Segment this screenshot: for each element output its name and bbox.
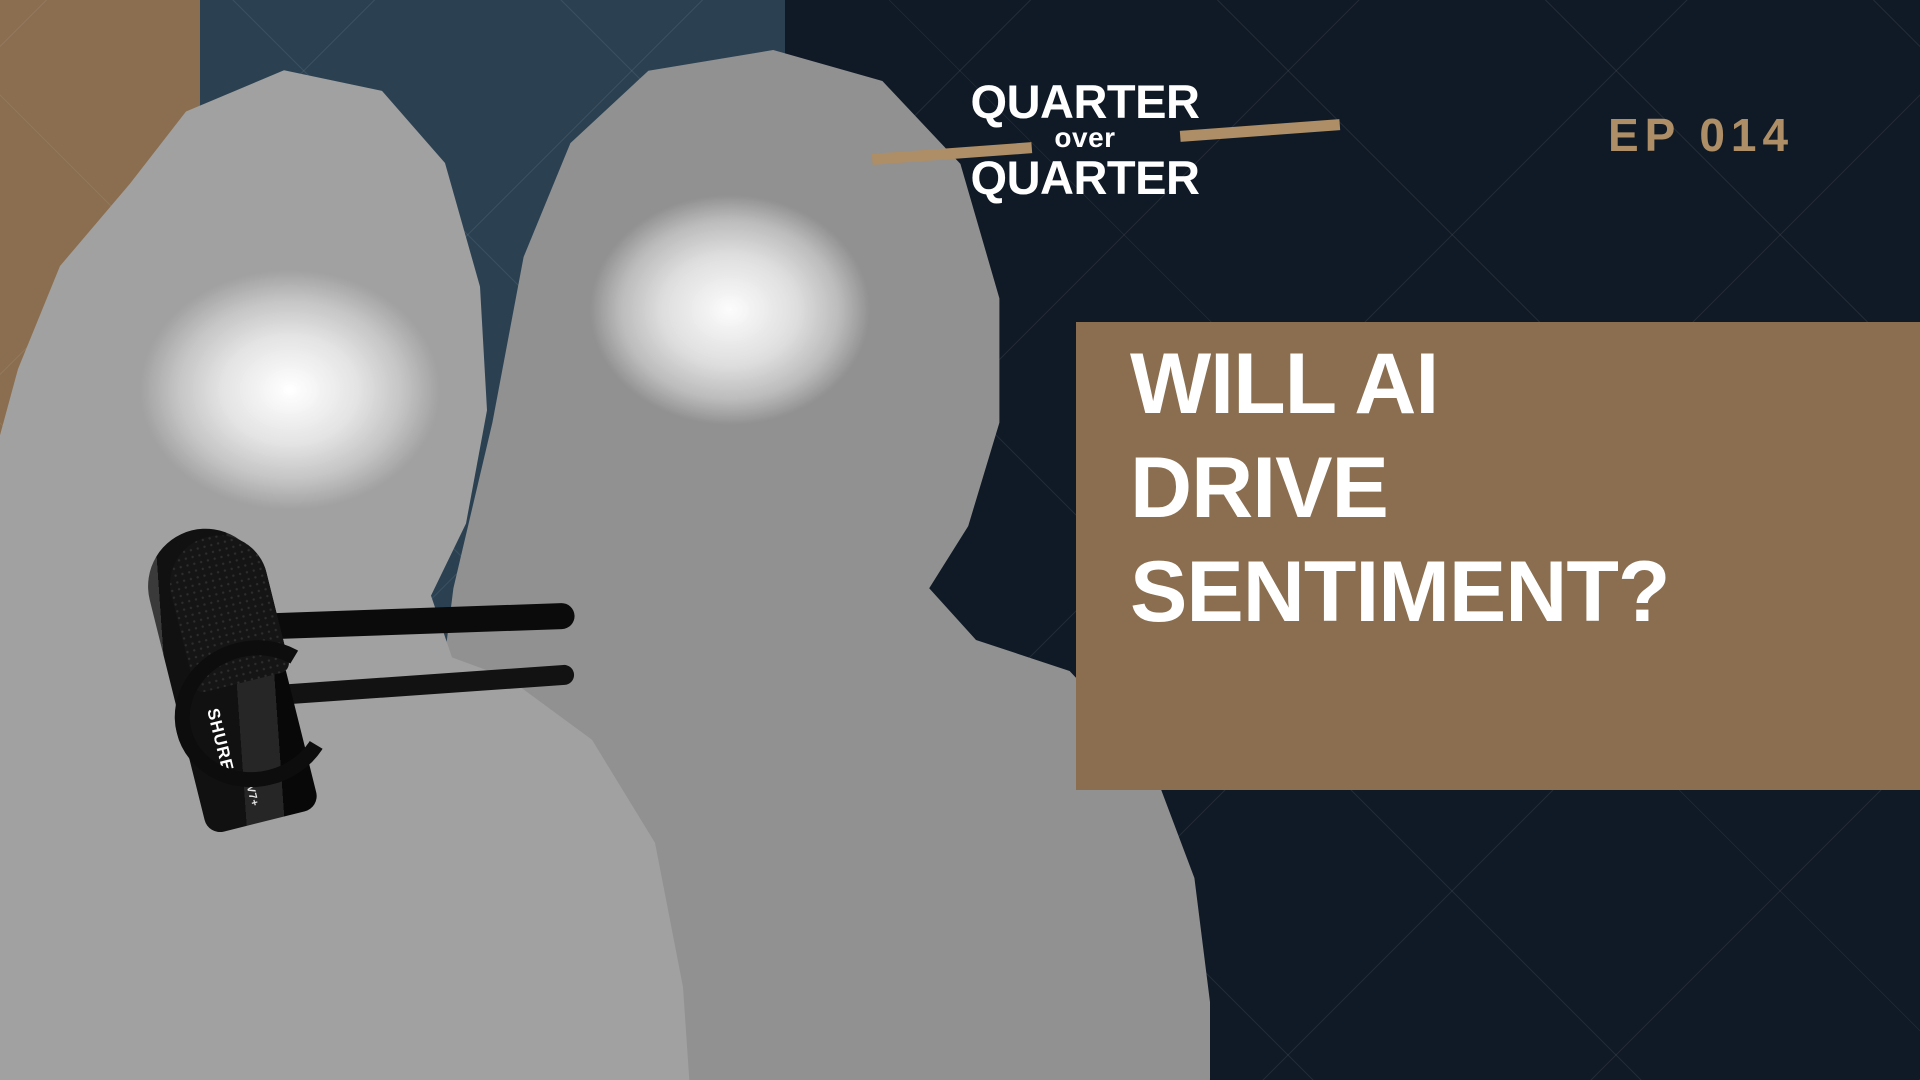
logo-word-over: over [930,122,1240,154]
logo-word-quarter-top: QUARTER [930,78,1240,126]
thumbnail-canvas: SHURE MV7+ QUARTER over QUARTER EP 014 W… [0,0,1920,1080]
show-logo: QUARTER over QUARTER [930,78,1240,210]
logo-word-quarter-bottom: QUARTER [930,154,1240,202]
title-line-1: WILL AI [1130,332,1910,436]
episode-number-label: EP 014 [1608,108,1794,162]
title-line-2: DRIVE [1130,436,1910,540]
title-line-3: SENTIMENT? [1130,540,1910,644]
episode-title-box: WILL AI DRIVE SENTIMENT? [1076,322,1920,790]
episode-title-text-group: WILL AI DRIVE SENTIMENT? [1130,332,1910,644]
